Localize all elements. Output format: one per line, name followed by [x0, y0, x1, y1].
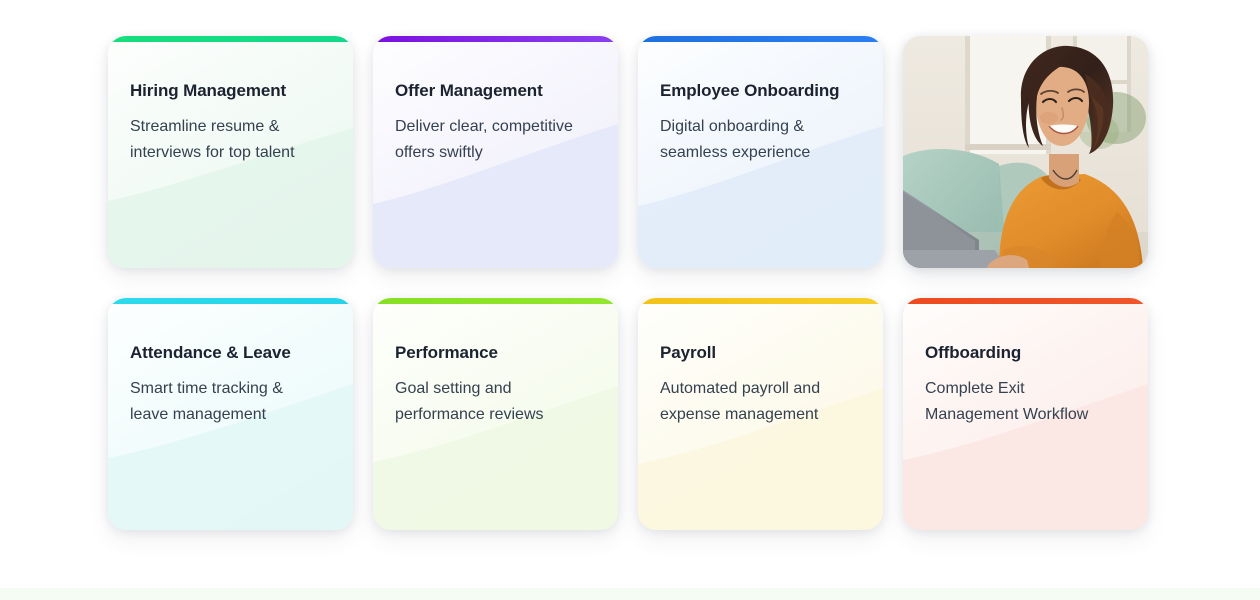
card-description: Deliver clear, competitive offers swiftl… [395, 114, 594, 165]
card-title: Hiring Management [130, 80, 329, 101]
page-bottom-band [0, 588, 1260, 600]
card-title: Employee Onboarding [660, 80, 859, 101]
feature-card-offer-management[interactable]: Offer Management Deliver clear, competit… [373, 36, 618, 268]
card-body: Hiring Management Streamline resume & in… [108, 36, 353, 165]
card-title: Payroll [660, 342, 859, 363]
feature-card-payroll[interactable]: Payroll Automated payroll and expense ma… [638, 298, 883, 530]
card-title: Offer Management [395, 80, 594, 101]
feature-card-hiring-management[interactable]: Hiring Management Streamline resume & in… [108, 36, 353, 268]
card-body: Performance Goal setting and performance… [373, 298, 618, 427]
card-body: Payroll Automated payroll and expense ma… [638, 298, 883, 427]
card-description: Complete Exit Management Workflow [925, 376, 1124, 427]
card-body: Employee Onboarding Digital onboarding &… [638, 36, 883, 165]
feature-card-attendance-and-leave[interactable]: Attendance & Leave Smart time tracking &… [108, 298, 353, 530]
card-body: Offer Management Deliver clear, competit… [373, 36, 618, 165]
card-description: Automated payroll and expense management [660, 376, 859, 427]
card-title: Offboarding [925, 342, 1124, 363]
woman-with-laptop-photo [903, 36, 1148, 268]
feature-card-performance[interactable]: Performance Goal setting and performance… [373, 298, 618, 530]
card-title: Performance [395, 342, 594, 363]
card-body: Offboarding Complete Exit Management Wor… [903, 298, 1148, 427]
card-description: Digital onboarding & seamless experience [660, 114, 859, 165]
features-grid: Hiring Management Streamline resume & in… [108, 36, 1154, 530]
card-body: Attendance & Leave Smart time tracking &… [108, 298, 353, 427]
card-title: Attendance & Leave [130, 342, 329, 363]
card-description: Smart time tracking & leave management [130, 376, 329, 427]
card-description: Goal setting and performance reviews [395, 376, 594, 427]
feature-card-employee-onboarding[interactable]: Employee Onboarding Digital onboarding &… [638, 36, 883, 268]
feature-card-offboarding[interactable]: Offboarding Complete Exit Management Wor… [903, 298, 1148, 530]
feature-card-hr-team-photo[interactable] [903, 36, 1148, 268]
card-description: Streamline resume & interviews for top t… [130, 114, 329, 165]
